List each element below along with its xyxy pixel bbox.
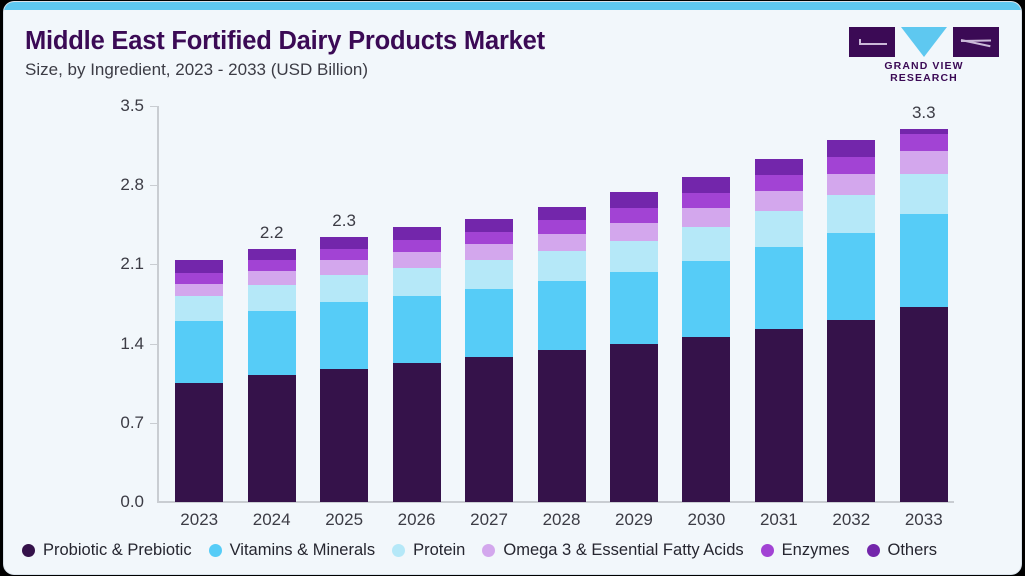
- accent-top-bar: [4, 2, 1021, 10]
- legend-color-swatch-icon: [761, 544, 774, 557]
- chart-legend: Probiotic & PrebioticVitamins & Minerals…: [22, 541, 1007, 560]
- bar-group[interactable]: [175, 106, 223, 502]
- legend-label: Enzymes: [782, 541, 850, 560]
- bar-segment[interactable]: [320, 249, 368, 260]
- bar-segment[interactable]: [175, 284, 223, 296]
- bar-segment[interactable]: [393, 296, 441, 363]
- bar-segment[interactable]: [827, 320, 875, 502]
- bar-segment[interactable]: [755, 211, 803, 247]
- bar-segment[interactable]: [682, 227, 730, 261]
- bar-segment[interactable]: [900, 214, 948, 308]
- bar-segment[interactable]: [610, 272, 658, 343]
- bar-segment[interactable]: [248, 249, 296, 260]
- bar-segment[interactable]: [610, 208, 658, 223]
- y-axis-tick-mark: [150, 264, 157, 265]
- bar-group[interactable]: [393, 106, 441, 502]
- bar-segment[interactable]: [827, 140, 875, 157]
- page-subtitle: Size, by Ingredient, 2023 - 2033 (USD Bi…: [25, 60, 368, 80]
- bar-segment[interactable]: [248, 260, 296, 271]
- x-axis-tick-label: 2025: [308, 510, 380, 530]
- bar-segment[interactable]: [827, 195, 875, 232]
- bar-group[interactable]: [538, 106, 586, 502]
- bar-segment[interactable]: [900, 174, 948, 214]
- legend-item[interactable]: Enzymes: [761, 541, 850, 560]
- bar-segment[interactable]: [682, 193, 730, 208]
- bar-group[interactable]: 2.3: [320, 106, 368, 502]
- bar-segment[interactable]: [465, 244, 513, 260]
- legend-color-swatch-icon: [22, 544, 35, 557]
- legend-label: Others: [888, 541, 938, 560]
- bar-group[interactable]: [610, 106, 658, 502]
- bar-segment[interactable]: [610, 344, 658, 502]
- y-axis-tick-label: 0.7: [96, 413, 144, 433]
- x-axis-tick-label: 2029: [598, 510, 670, 530]
- bar-segment[interactable]: [538, 234, 586, 251]
- bar-segment[interactable]: [538, 207, 586, 221]
- bar-segment[interactable]: [900, 134, 948, 151]
- logo-v-icon: [901, 27, 947, 57]
- bar-segment[interactable]: [393, 363, 441, 502]
- logo-g-icon: [849, 27, 895, 57]
- bar-group[interactable]: [682, 106, 730, 502]
- legend-color-swatch-icon: [482, 544, 495, 557]
- bar-group[interactable]: [827, 106, 875, 502]
- legend-label: Omega 3 & Essential Fatty Acids: [503, 541, 743, 560]
- bar-segment[interactable]: [320, 369, 368, 503]
- y-axis-tick-mark: [150, 185, 157, 186]
- bar-segment[interactable]: [320, 237, 368, 248]
- legend-item[interactable]: Protein: [392, 541, 465, 560]
- bar-segment[interactable]: [248, 271, 296, 285]
- bar-segment[interactable]: [538, 350, 586, 502]
- bar-segment[interactable]: [393, 240, 441, 252]
- bar-segment[interactable]: [465, 289, 513, 357]
- legend-item[interactable]: Others: [867, 541, 938, 560]
- bar-segment[interactable]: [755, 247, 803, 328]
- bar-segment[interactable]: [900, 129, 948, 135]
- legend-label: Vitamins & Minerals: [230, 541, 376, 560]
- x-axis-tick-label: 2032: [815, 510, 887, 530]
- bar-value-label: 2.2: [234, 223, 310, 243]
- plot-area: 2.22.33.3: [157, 106, 954, 502]
- bar-segment[interactable]: [175, 273, 223, 283]
- bar-segment[interactable]: [827, 157, 875, 174]
- bar-segment[interactable]: [682, 177, 730, 193]
- bar-segment[interactable]: [610, 223, 658, 241]
- legend-label: Probiotic & Prebiotic: [43, 541, 192, 560]
- bar-value-label: 3.3: [886, 103, 962, 123]
- bar-segment[interactable]: [682, 337, 730, 502]
- bar-segment[interactable]: [827, 174, 875, 195]
- grand-view-research-logo: GRAND VIEW RESEARCH: [849, 27, 999, 75]
- bar-segment[interactable]: [538, 281, 586, 350]
- bar-segment[interactable]: [393, 227, 441, 239]
- bar-segment[interactable]: [538, 220, 586, 234]
- bar-segment[interactable]: [755, 191, 803, 211]
- bar-segment[interactable]: [393, 268, 441, 296]
- bar-segment[interactable]: [175, 321, 223, 383]
- bar-segment[interactable]: [682, 261, 730, 337]
- bar-group[interactable]: 3.3: [900, 106, 948, 502]
- bar-segment[interactable]: [900, 307, 948, 502]
- y-axis-tick-label: 0.0: [96, 492, 144, 512]
- bar-segment[interactable]: [682, 208, 730, 227]
- bar-segment[interactable]: [320, 260, 368, 275]
- legend-label: Protein: [413, 541, 465, 560]
- legend-item[interactable]: Vitamins & Minerals: [209, 541, 376, 560]
- bar-group[interactable]: [465, 106, 513, 502]
- bar-group[interactable]: 2.2: [248, 106, 296, 502]
- legend-color-swatch-icon: [209, 544, 222, 557]
- bar-segment[interactable]: [465, 219, 513, 231]
- bar-segment[interactable]: [900, 151, 948, 174]
- x-axis-tick-label: 2031: [743, 510, 815, 530]
- x-axis-tick-label: 2033: [888, 510, 960, 530]
- bar-segment[interactable]: [465, 357, 513, 502]
- bar-segment[interactable]: [610, 192, 658, 208]
- y-axis-tick-label: 1.4: [96, 334, 144, 354]
- y-axis-tick-label: 3.5: [96, 96, 144, 116]
- chart-card: Middle East Fortified Dairy Products Mar…: [4, 2, 1021, 574]
- bar-segment[interactable]: [248, 375, 296, 502]
- bar-segment[interactable]: [755, 175, 803, 191]
- bar-segment[interactable]: [175, 260, 223, 274]
- y-axis-tick-mark: [150, 106, 157, 107]
- bar-segment[interactable]: [755, 159, 803, 175]
- bar-segment[interactable]: [827, 233, 875, 320]
- bar-segment[interactable]: [175, 296, 223, 321]
- x-axis-tick-label: 2027: [453, 510, 525, 530]
- x-axis-tick-label: 2026: [381, 510, 453, 530]
- logo-brand-text: GRAND VIEW RESEARCH: [849, 60, 999, 84]
- bar-segment[interactable]: [610, 241, 658, 273]
- logo-r-icon: [953, 27, 999, 57]
- bar-segment[interactable]: [538, 251, 586, 282]
- bar-segment[interactable]: [248, 311, 296, 375]
- bar-segment[interactable]: [465, 260, 513, 289]
- legend-item[interactable]: Omega 3 & Essential Fatty Acids: [482, 541, 743, 560]
- bar-segment[interactable]: [755, 329, 803, 502]
- bar-segment[interactable]: [320, 275, 368, 302]
- logo-mark: [849, 27, 999, 57]
- y-axis-tick-mark: [150, 423, 157, 424]
- x-axis-tick-label: 2023: [163, 510, 235, 530]
- bar-value-label: 2.3: [306, 211, 382, 231]
- bar-segment[interactable]: [248, 285, 296, 311]
- x-axis-tick-label: 2024: [236, 510, 308, 530]
- x-axis-tick-label: 2030: [670, 510, 742, 530]
- y-axis-tick-mark: [150, 344, 157, 345]
- y-axis-tick-label: 2.1: [96, 254, 144, 274]
- x-axis-tick-label: 2028: [526, 510, 598, 530]
- y-axis-tick-label: 2.8: [96, 175, 144, 195]
- legend-color-swatch-icon: [392, 544, 405, 557]
- bar-segment[interactable]: [320, 302, 368, 369]
- bar-segment[interactable]: [175, 383, 223, 502]
- page-title: Middle East Fortified Dairy Products Mar…: [25, 27, 545, 56]
- bar-segment[interactable]: [393, 252, 441, 268]
- bar-segment[interactable]: [465, 232, 513, 244]
- legend-item[interactable]: Probiotic & Prebiotic: [22, 541, 192, 560]
- bar-group[interactable]: [755, 106, 803, 502]
- legend-color-swatch-icon: [867, 544, 880, 557]
